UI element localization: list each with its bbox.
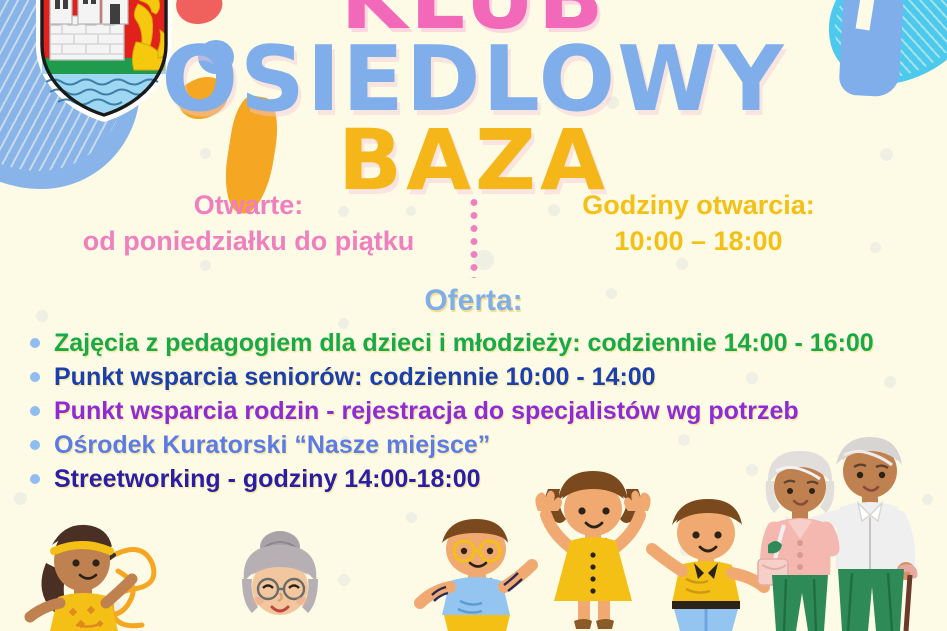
hours-value: 10:00 – 18:00 bbox=[479, 226, 919, 258]
opening-hours-column: Godziny otwarcia: 10:00 – 18:00 bbox=[479, 190, 919, 258]
offer-item-label: Zajęcia z pedagogiem dla dzieci i młodzi… bbox=[54, 326, 874, 360]
offer-heading: Oferta: bbox=[0, 284, 947, 318]
bullet-dot-icon bbox=[30, 440, 40, 450]
offer-item: Punkt wsparcia rodzin - rejestracja do s… bbox=[30, 394, 937, 428]
title-line-osiedlowy: OSIEDLOWY bbox=[0, 39, 947, 122]
hours-heading: Godziny otwarcia: bbox=[479, 190, 919, 222]
elderly-woman-illustration bbox=[218, 531, 338, 631]
offer-list: Zajęcia z pedagogiem dla dzieci i młodzi… bbox=[30, 326, 937, 496]
offer-item-label: Punkt wsparcia seniorów: codziennie 10:0… bbox=[54, 360, 656, 394]
bullet-dot-icon bbox=[30, 372, 40, 382]
offer-item-label: Streetworking - godziny 14:00-18:00 bbox=[54, 462, 481, 496]
offer-item-label: Punkt wsparcia rodzin - rejestracja do s… bbox=[54, 394, 799, 428]
bullet-dot-icon bbox=[30, 338, 40, 348]
poster-title: KLUB OSIEDLOWY BAZA bbox=[0, 0, 947, 199]
bullet-dot-icon bbox=[30, 474, 40, 484]
open-days-value: od poniedziałku do piątku bbox=[29, 226, 469, 258]
offer-item-label: Ośrodek Kuratorski “Nasze miejsce” bbox=[54, 428, 490, 462]
bullet-dot-icon bbox=[30, 406, 40, 416]
offer-item: Streetworking - godziny 14:00-18:00 bbox=[30, 462, 937, 496]
offer-item: Punkt wsparcia seniorów: codziennie 10:0… bbox=[30, 360, 937, 394]
open-heading: Otwarte: bbox=[29, 190, 469, 222]
offer-item: Zajęcia z pedagogiem dla dzieci i młodzi… bbox=[30, 326, 937, 360]
dotted-divider-icon bbox=[469, 196, 479, 278]
poster-canvas: KLUB OSIEDLOWY BAZA Otwarte: od poniedzi… bbox=[0, 0, 947, 631]
opening-info: Otwarte: od poniedziałku do piątku Godzi… bbox=[0, 190, 947, 285]
title-line-baza: BAZA bbox=[0, 122, 947, 199]
open-days-column: Otwarte: od poniedziałku do piątku bbox=[29, 190, 469, 258]
offer-item: Ośrodek Kuratorski “Nasze miejsce” bbox=[30, 428, 937, 462]
girl-with-ribbon-illustration bbox=[18, 511, 228, 631]
